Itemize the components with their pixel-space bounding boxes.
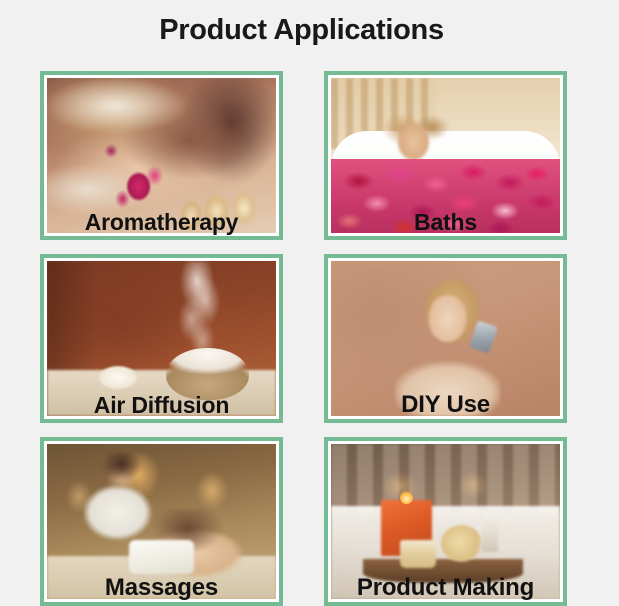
bottle-layer xyxy=(482,512,498,552)
application-card-massages[interactable]: Massages xyxy=(40,437,283,606)
sponge-layer xyxy=(441,525,482,562)
card-label-product-making: Product Making xyxy=(328,575,563,600)
application-card-air-diffusion[interactable]: Air Diffusion xyxy=(40,254,283,423)
wall-tiles-layer xyxy=(331,444,560,515)
application-card-baths[interactable]: Baths xyxy=(324,71,567,240)
card-label-aromatherapy: Aromatherapy xyxy=(44,210,279,234)
bowl-layer xyxy=(400,540,437,568)
product-applications-page: Product Applications Aromatherapy Baths xyxy=(0,0,619,604)
card-label-air-diffusion: Air Diffusion xyxy=(44,393,279,417)
application-card-diy-use[interactable]: DIY Use xyxy=(324,254,567,423)
card-label-baths: Baths xyxy=(328,210,563,234)
application-card-aromatherapy[interactable]: Aromatherapy xyxy=(40,71,283,240)
card-label-massages: Massages xyxy=(44,575,279,600)
card-label-diy-use: DIY Use xyxy=(328,392,563,417)
page-title: Product Applications xyxy=(0,14,603,47)
application-card-product-making[interactable]: Product Making xyxy=(324,437,567,606)
face-layer xyxy=(427,295,468,342)
steam-layer xyxy=(157,261,244,373)
applications-grid: Aromatherapy Baths Air Diffus xyxy=(40,71,567,606)
towel-layer xyxy=(129,540,193,574)
